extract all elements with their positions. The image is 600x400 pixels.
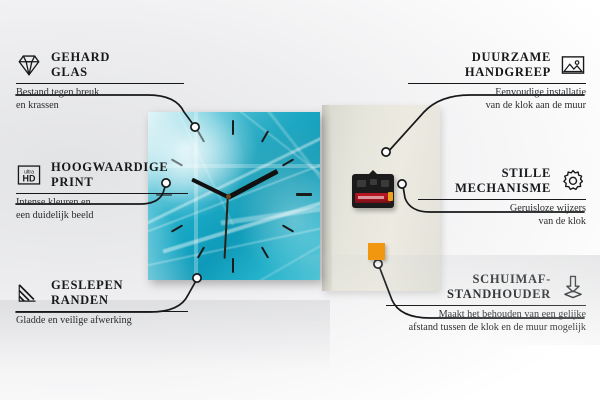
- feature-subtitle-line1: Gladde en veilige afwerking: [16, 315, 196, 328]
- feature-subtitle-line2: en krassen: [16, 100, 191, 113]
- clock-tick-8: [171, 224, 183, 232]
- clock-tick-1: [261, 130, 269, 142]
- picture-frame-icon: [560, 52, 586, 78]
- mechanism-detail: [370, 179, 377, 185]
- gear-icon: [560, 168, 586, 194]
- feature-subtitle-line2: van de klok aan de muur: [400, 100, 586, 113]
- wall-panel-edge: [322, 105, 332, 291]
- feature-subtitle-line2: van de klok: [410, 216, 586, 229]
- feature-divider: [16, 83, 184, 84]
- feature-title-line1: GEHARD: [51, 50, 110, 65]
- feature-subtitle-line1: Eenvoudige installatie: [400, 87, 586, 100]
- clock-tick-6: [232, 258, 234, 273]
- diamond-icon: [16, 52, 42, 78]
- foam-spacer-pad: [368, 243, 385, 260]
- battery-positive-terminal: [388, 192, 393, 201]
- feature-title-line2: PRINT: [51, 175, 168, 190]
- feature-divider: [408, 83, 586, 84]
- feature-title-line2: STANDHOUDER: [447, 287, 551, 302]
- svg-text:HD: HD: [23, 173, 36, 183]
- feature-title-line2: GLAS: [51, 65, 110, 80]
- feature-subtitle-line1: Maakt het behouden van een gelijke: [376, 309, 586, 322]
- feature-hoogwaardige-print: ultra HD HOOGWAARDIGE PRINT Intense kleu…: [16, 160, 198, 222]
- feature-subtitle-line1: Bestand tegen breuk: [16, 87, 191, 100]
- clock-center-cap: [226, 194, 231, 199]
- feature-title-line2: HANDGREEP: [465, 65, 551, 80]
- infographic-canvas: GEHARD GLAS Bestand tegen breuk en krass…: [0, 0, 600, 400]
- feature-title-line1: DUURZAME: [465, 50, 551, 65]
- feature-gehard-glas: GEHARD GLAS Bestand tegen breuk en krass…: [16, 50, 191, 112]
- clock-tick-3: [296, 193, 312, 196]
- clock-tick-12: [232, 120, 234, 135]
- feature-geslepen-randen: GESLEPEN RANDEN Gladde en veilige afwerk…: [16, 278, 196, 328]
- feature-divider: [386, 305, 586, 306]
- ultra-hd-icon: ultra HD: [16, 162, 42, 188]
- feature-schuimaf-standhouder: SCHUIMAF- STANDHOUDER Maakt het behouden…: [376, 272, 586, 334]
- feature-subtitle-line1: Geruisloze wijzers: [410, 203, 586, 216]
- battery-label: [358, 196, 384, 199]
- mechanism-detail: [357, 180, 366, 187]
- clock-mechanism: [352, 170, 394, 208]
- feature-divider: [16, 311, 188, 312]
- feature-duurzame-handgreep: DUURZAME HANDGREEP Eenvoudige installati…: [400, 50, 586, 112]
- feature-divider: [16, 193, 188, 194]
- feature-title-line1: STILLE: [455, 166, 551, 181]
- feature-subtitle-line1: Intense kleuren en: [16, 197, 198, 210]
- down-arrow-pad-icon: [560, 274, 586, 300]
- feature-title-line1: GESLEPEN: [51, 278, 123, 293]
- feature-title-line2: MECHANISME: [455, 181, 551, 196]
- bevelled-edges-icon: [16, 280, 42, 306]
- feature-title-line2: RANDEN: [51, 293, 123, 308]
- mechanism-detail: [381, 180, 389, 187]
- feature-subtitle-line2: een duidelijk beeld: [16, 210, 198, 223]
- feature-stille-mechanisme: STILLE MECHANISME Geruisloze wijzers van…: [410, 166, 586, 228]
- feature-divider: [418, 199, 586, 200]
- feature-title-line1: HOOGWAARDIGE: [51, 160, 168, 175]
- feature-subtitle-line2: afstand tussen de klok en de muur mogeli…: [376, 322, 586, 335]
- feature-title-line1: SCHUIMAF-: [447, 272, 551, 287]
